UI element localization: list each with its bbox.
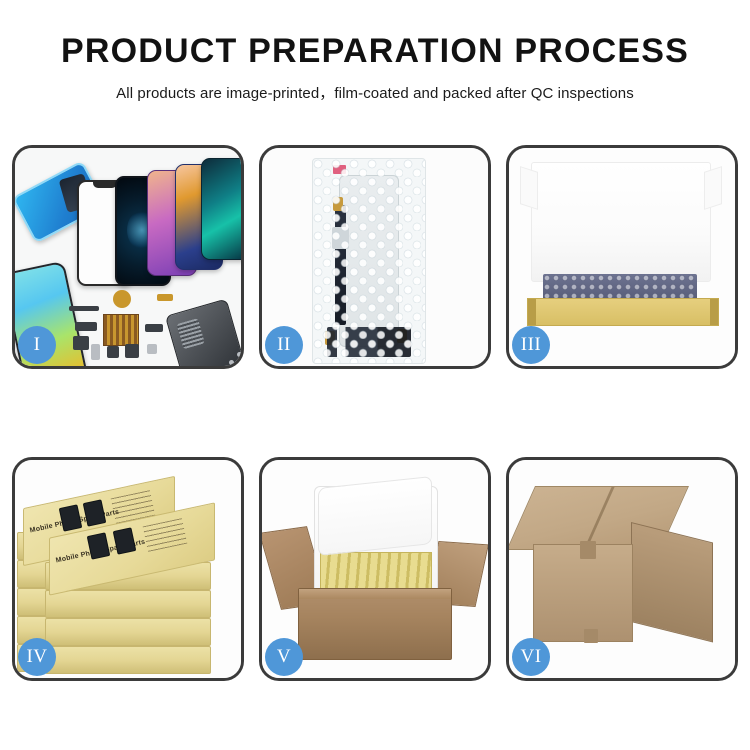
page-subtitle: All products are image-printed，film-coat…: [0, 82, 750, 103]
teal-phone-display: [201, 158, 241, 260]
phone-back-housing: [165, 298, 241, 366]
part-small-4: [107, 346, 119, 358]
part-small-1: [75, 322, 97, 331]
process-step-1: I: [12, 145, 244, 369]
part-small-3: [91, 344, 100, 360]
box-stack: Mobile Phone Spare Parts Mobile Phone Sp…: [15, 488, 241, 668]
step-badge-1: I: [18, 326, 56, 364]
carton-side-face: [631, 522, 713, 642]
step-badge-5: V: [265, 638, 303, 676]
part-small-2: [73, 336, 89, 350]
step-badge-3: III: [512, 326, 550, 364]
part-small-6: [145, 324, 163, 332]
header: PRODUCT PREPARATION PROCESS All products…: [0, 0, 750, 103]
stacked-box-front-2: [45, 618, 211, 646]
step-badge-6: VI: [512, 638, 550, 676]
process-step-grid: I II: [12, 145, 738, 681]
stacked-box-front-3: [45, 590, 211, 618]
part-small-7: [147, 344, 157, 354]
product-preparation-infographic: PRODUCT PREPARATION PROCESS All products…: [0, 0, 750, 750]
page-title: PRODUCT PREPARATION PROCESS: [0, 34, 750, 68]
carton-front-face: [533, 544, 633, 642]
process-step-4: Mobile Phone Spare Parts Mobile Phone Sp…: [12, 457, 244, 681]
process-step-6: VI: [506, 457, 738, 681]
step-badge-4: IV: [18, 638, 56, 676]
carton-body: [298, 588, 452, 660]
process-step-5: V: [259, 457, 491, 681]
foam-lid: [318, 476, 432, 556]
process-step-2: II: [259, 145, 491, 369]
process-step-3: III: [506, 145, 738, 369]
bubble-wrap-bag: [312, 158, 426, 364]
part-small-5: [125, 344, 139, 358]
part-flex-gold: [157, 294, 173, 301]
kraft-box-front-panel: [527, 298, 719, 326]
part-screw-1: [237, 352, 241, 357]
white-foam-liner: [531, 162, 711, 282]
bubble-wrap-layer: [543, 274, 697, 300]
stacked-box-front-1: [45, 646, 211, 674]
spare-parts-cluster: [69, 288, 241, 366]
bubble-texture: [313, 159, 425, 363]
part-speaker: [113, 290, 131, 308]
part-strip: [69, 306, 99, 311]
part-screw-2: [229, 360, 234, 365]
step-badge-2: II: [265, 326, 303, 364]
part-chip-grid: [103, 314, 139, 346]
